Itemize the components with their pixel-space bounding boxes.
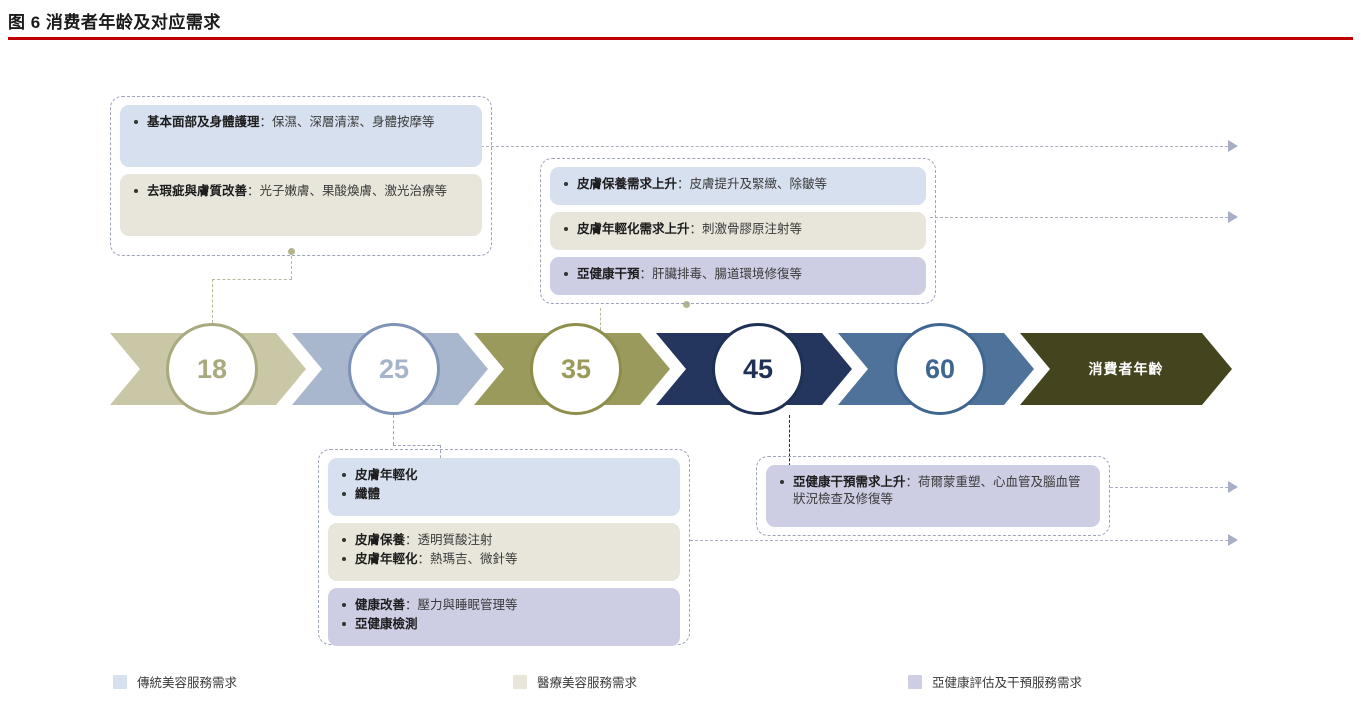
bullet-text: 亞健康干預需求上升：荷爾蒙重塑、心血管及腦血管狀況檢查及修復等 (793, 474, 1090, 508)
timeline-segment-18[interactable] (110, 333, 306, 405)
legend-label-subhealth: 亞健康評估及干預服務需求 (932, 672, 1082, 691)
connector-25-horizontal (393, 445, 440, 446)
bullet-item: 健康改善：壓力與睡眠管理等 (336, 597, 670, 614)
bullet-text: 皮膚保養：透明質酸注射 (355, 532, 670, 549)
flow-arrowhead-2 (1228, 211, 1238, 223)
flow-line-4 (690, 540, 1228, 541)
timeline-node-35[interactable]: 35 (530, 323, 622, 415)
bullet-item: 亞健康檢測 (336, 616, 670, 633)
bullet-item: 去瑕疵與膚質改善：光子嫩膚、果酸煥膚、激光治療等 (128, 183, 472, 200)
bullet-dot (564, 182, 568, 186)
legend-label-medical: 醫療美容服務需求 (537, 672, 637, 691)
bullet-dot (564, 272, 568, 276)
flow-arrowhead-4 (1228, 534, 1238, 546)
diagram-canvas: 基本面部及身體護理：保濕、深層清潔、身體按摩等 去瑕疵與膚質改善：光子嫩膚、果酸… (0, 46, 1361, 708)
flow-line-3 (1110, 487, 1228, 488)
bullet-dot (342, 492, 346, 496)
bullet-text: 皮膚保養需求上升：皮膚提升及緊緻、除皺等 (577, 176, 916, 193)
bullet-dot (134, 189, 138, 193)
group-45-panel[interactable]: 亞健康干預需求上升：荷爾蒙重塑、心血管及腦血管狀況檢查及修復等 (756, 456, 1110, 536)
header: 图 6 消费者年龄及对应需求 (8, 8, 1353, 40)
bullet-item: 皮膚年輕化：熱瑪吉、微針等 (336, 551, 670, 568)
timeline-segment-25[interactable] (292, 333, 488, 405)
flow-line-1 (466, 146, 1228, 147)
bullet-dot (564, 227, 568, 231)
card-45-subhealth: 亞健康干預需求上升：荷爾蒙重塑、心血管及腦血管狀況檢查及修復等 (766, 465, 1100, 527)
bullet-text: 亞健康檢測 (355, 616, 670, 633)
title-underline (8, 37, 1353, 40)
bullet-item: 皮膚保養：透明質酸注射 (336, 532, 670, 549)
timeline-node-25[interactable]: 25 (348, 323, 440, 415)
timeline-node-60-label: 60 (925, 354, 955, 385)
bullet-dot (134, 120, 138, 124)
timeline-node-35-label: 35 (561, 354, 591, 385)
bullet-item: 纖體 (336, 486, 670, 503)
connector-35-vertical (600, 308, 601, 330)
timeline-node-45-label: 45 (743, 354, 773, 385)
timeline-node-45[interactable]: 45 (712, 323, 804, 415)
legend-swatch-subhealth (908, 675, 922, 689)
bullet-dot (780, 480, 784, 484)
card-25-traditional: 皮膚年輕化 纖體 (328, 458, 680, 516)
card-25-medical: 皮膚保養：透明質酸注射 皮膚年輕化：熱瑪吉、微針等 (328, 523, 680, 581)
bullet-text: 皮膚年輕化需求上升：刺激骨膠原注射等 (577, 221, 916, 238)
bullet-item: 亞健康干預：肝臟排毒、腸道環境修復等 (558, 266, 916, 283)
legend-item-traditional: 傳統美容服務需求 (113, 672, 237, 691)
timeline-node-60[interactable]: 60 (894, 323, 986, 415)
legend: 傳統美容服務需求 醫療美容服務需求 亞健康評估及干預服務需求 (0, 666, 1361, 706)
connector-25-vertical-a (393, 415, 394, 445)
group-25-panel[interactable]: 皮膚年輕化 纖體 皮膚保養：透明質酸注射 皮膚年輕化：熱瑪吉、微針等 健康改善：… (318, 449, 690, 645)
bullet-text: 亞健康干預：肝臟排毒、腸道環境修復等 (577, 266, 916, 283)
flow-line-2 (930, 217, 1228, 218)
legend-label-traditional: 傳統美容服務需求 (137, 672, 237, 691)
bullet-item: 基本面部及身體護理：保濕、深層清潔、身體按摩等 (128, 114, 472, 131)
axis-label-text: 消費者年齡 (1020, 333, 1232, 405)
bullet-dot (342, 603, 346, 607)
bullet-text: 皮膚年輕化 (355, 467, 670, 484)
timeline-segment-45[interactable] (656, 333, 852, 405)
bullet-item: 亞健康干預需求上升：荷爾蒙重塑、心血管及腦血管狀況檢查及修復等 (774, 474, 1090, 508)
timeline-node-25-label: 25 (379, 354, 409, 385)
bullet-text: 健康改善：壓力與睡眠管理等 (355, 597, 670, 614)
connector-18-horizontal (212, 279, 292, 280)
bullet-text: 基本面部及身體護理：保濕、深層清潔、身體按摩等 (147, 114, 472, 131)
card-18-traditional: 基本面部及身體護理：保濕、深層清潔、身體按摩等 (120, 105, 482, 167)
group-35-panel[interactable]: 皮膚保養需求上升：皮膚提升及緊緻、除皺等 皮膚年輕化需求上升：刺激骨膠原注射等 … (540, 158, 936, 304)
bullet-dot (342, 473, 346, 477)
legend-item-subhealth: 亞健康評估及干預服務需求 (908, 672, 1082, 691)
bullet-dot (342, 557, 346, 561)
bullet-text: 纖體 (355, 486, 670, 503)
bullet-item: 皮膚年輕化 (336, 467, 670, 484)
bullet-dot (342, 622, 346, 626)
bullet-dot (342, 538, 346, 542)
card-35-subhealth: 亞健康干預：肝臟排毒、腸道環境修復等 (550, 257, 926, 295)
flow-arrowhead-1 (1228, 140, 1238, 152)
card-25-subhealth: 健康改善：壓力與睡眠管理等 亞健康檢測 (328, 588, 680, 646)
bullet-item: 皮膚年輕化需求上升：刺激骨膠原注射等 (558, 221, 916, 238)
legend-swatch-traditional (113, 675, 127, 689)
legend-swatch-medical (513, 675, 527, 689)
card-18-medical: 去瑕疵與膚質改善：光子嫩膚、果酸煥膚、激光治療等 (120, 174, 482, 236)
group-18-panel[interactable]: 基本面部及身體護理：保濕、深層清潔、身體按摩等 去瑕疵與膚質改善：光子嫩膚、果酸… (110, 96, 492, 256)
timeline-node-18-label: 18 (197, 354, 227, 385)
legend-item-medical: 醫療美容服務需求 (513, 672, 637, 691)
timeline-node-18[interactable]: 18 (166, 323, 258, 415)
bullet-item: 皮膚保養需求上升：皮膚提升及緊緻、除皺等 (558, 176, 916, 193)
flow-arrowhead-3 (1228, 481, 1238, 493)
timeline-segment-35[interactable] (474, 333, 670, 405)
bullet-text: 去瑕疵與膚質改善：光子嫩膚、果酸煥膚、激光治療等 (147, 183, 472, 200)
card-35-medical: 皮膚年輕化需求上升：刺激骨膠原注射等 (550, 212, 926, 250)
bullet-text: 皮膚年輕化：熱瑪吉、微針等 (355, 551, 670, 568)
timeline-segment-axis-label[interactable]: 消費者年齡 (1020, 333, 1232, 405)
page-title: 图 6 消费者年龄及对应需求 (8, 8, 1353, 33)
connector-18-vertical-b (212, 279, 213, 323)
timeline-segment-60[interactable] (838, 333, 1034, 405)
card-35-traditional: 皮膚保養需求上升：皮膚提升及緊緻、除皺等 (550, 167, 926, 205)
